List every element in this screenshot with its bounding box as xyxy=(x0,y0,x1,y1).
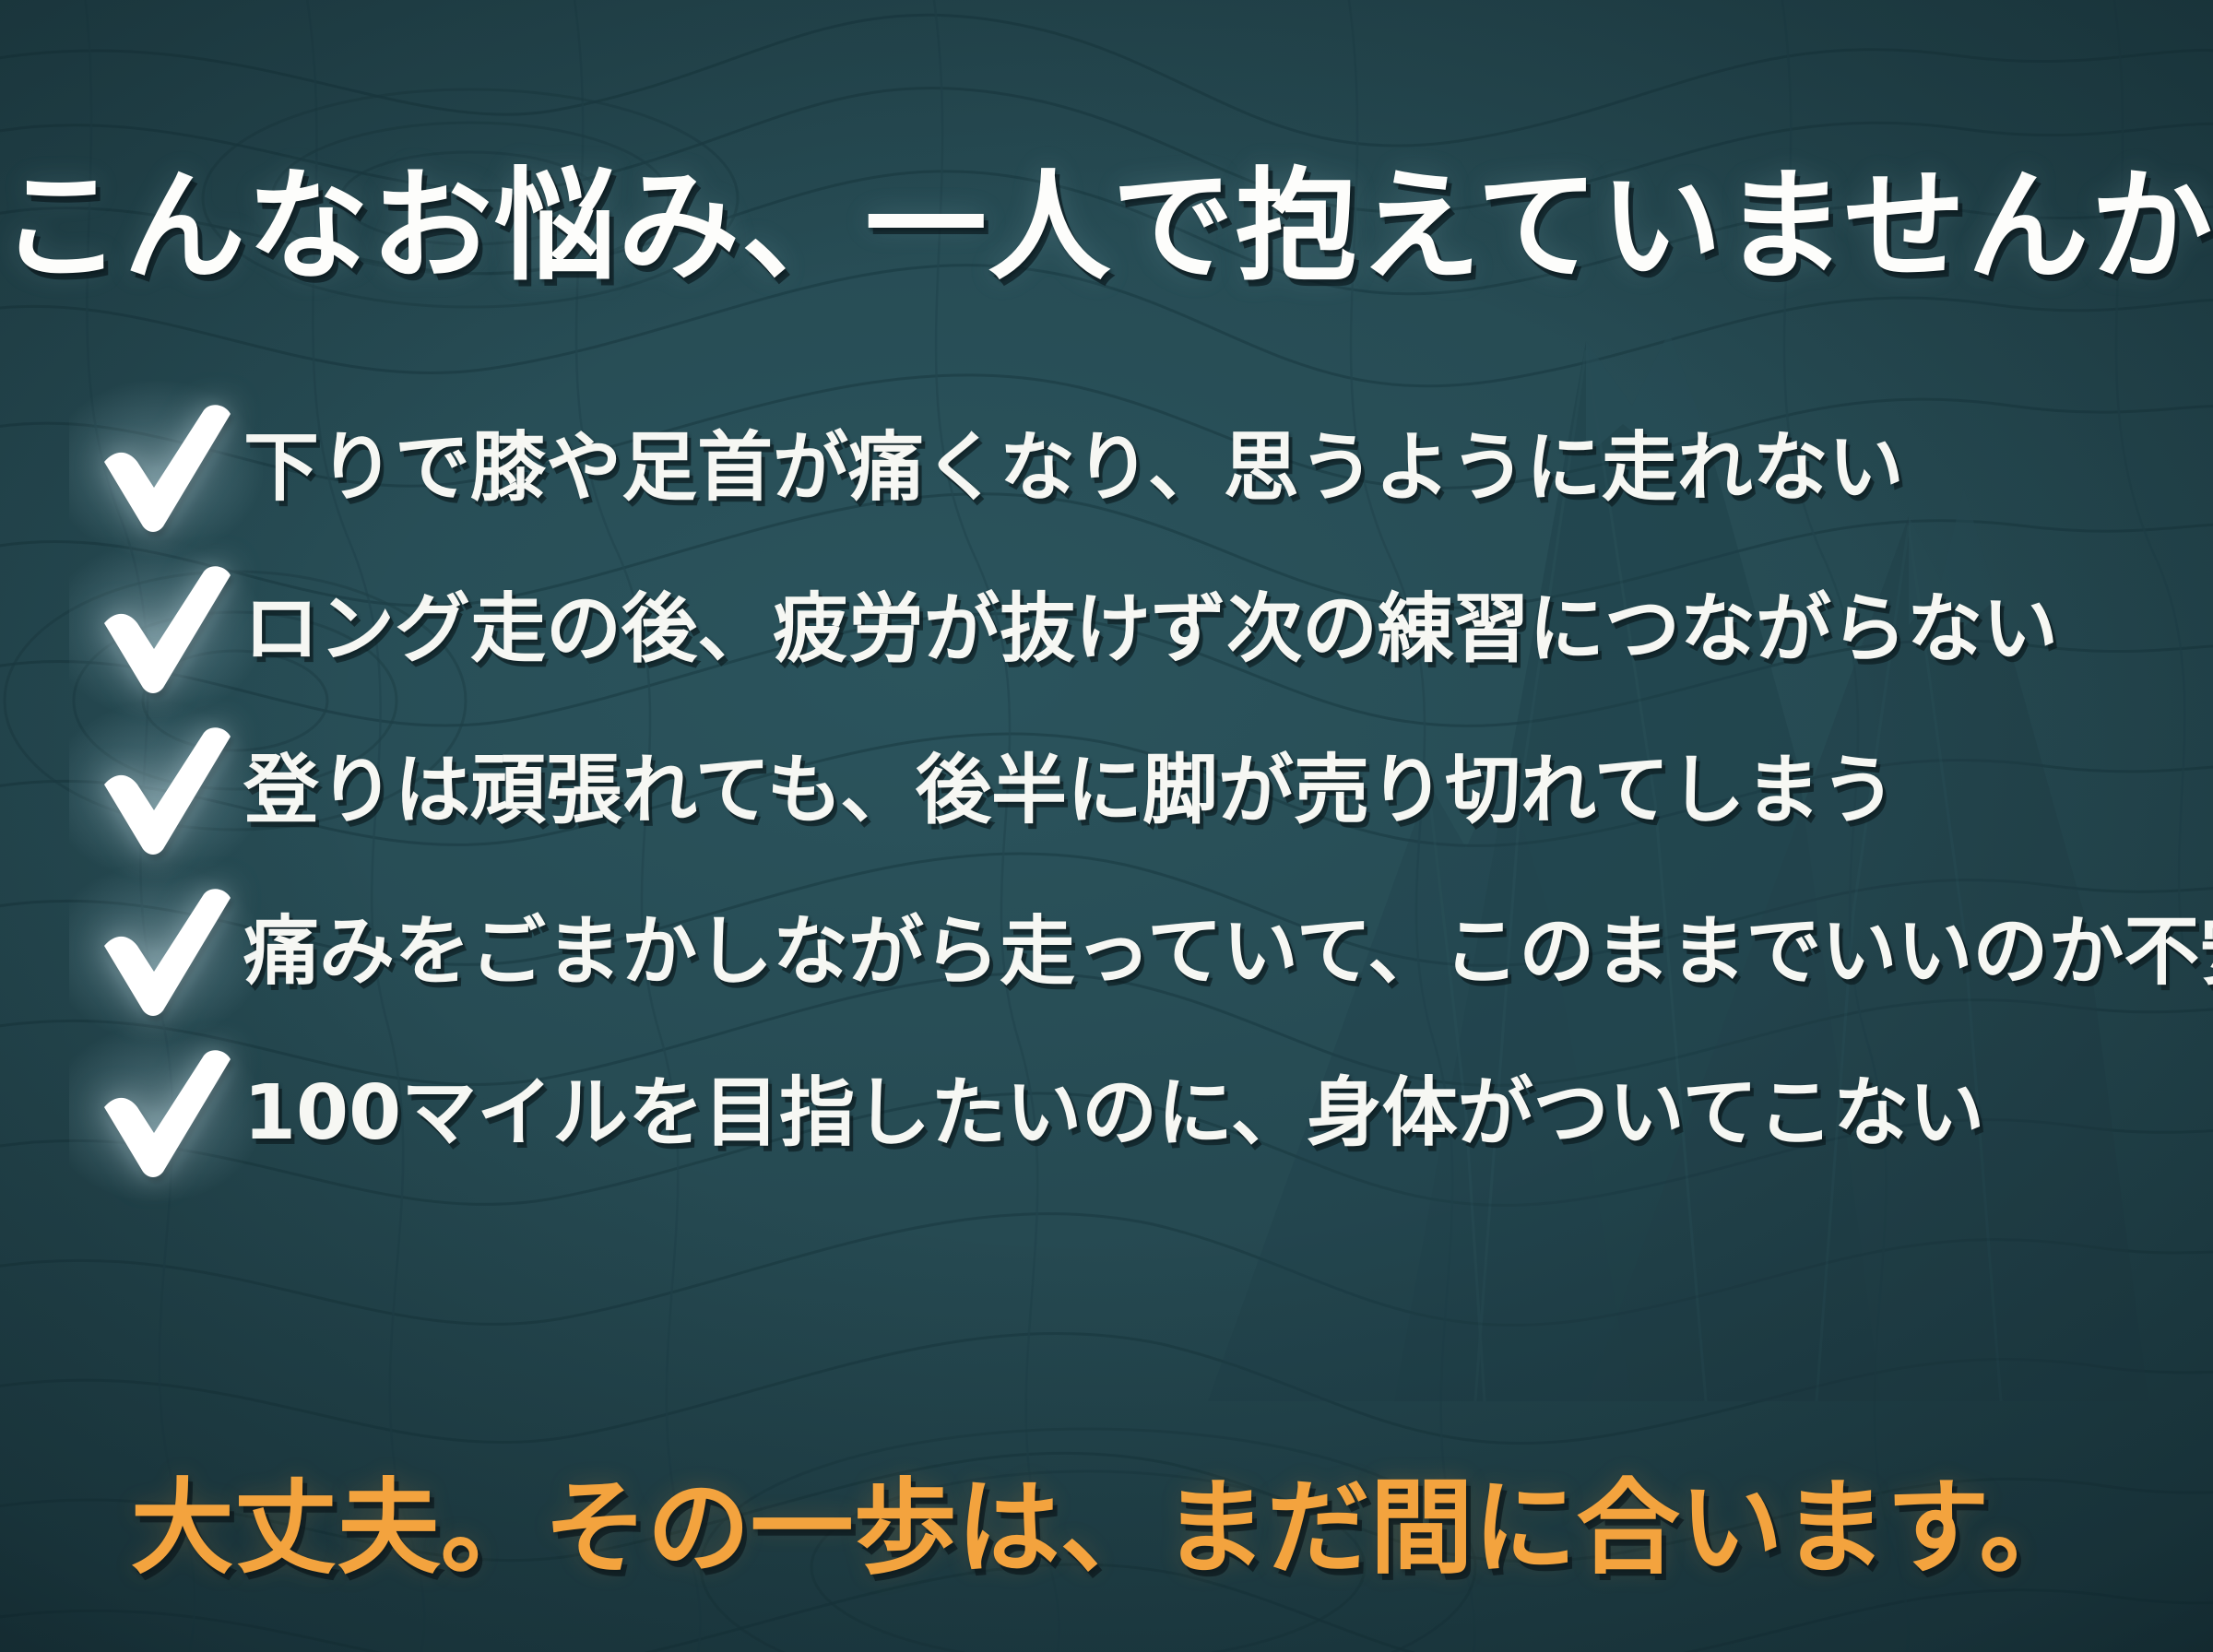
check-icon xyxy=(89,722,243,860)
check-icon xyxy=(89,883,243,1021)
pain-point-checklist: 下りで膝や足首が痛くなり、思うように走れない ロング走の後、疲労が抜けず次の練習… xyxy=(89,387,2158,1194)
list-item: 登りは頑張れても、後半に脚が売り切れてしまう xyxy=(89,710,2158,871)
list-item: 下りで膝や足首が痛くなり、思うように走れない xyxy=(89,387,2158,549)
check-icon xyxy=(89,399,243,537)
page-title: こんなお悩み、一人で抱えていませんか？ xyxy=(0,166,2213,288)
cta-message: 大丈夫。その一歩は、まだ間に合います。 xyxy=(0,1477,2213,1580)
list-item: ロング走の後、疲労が抜けず次の練習につながらない xyxy=(89,549,2158,710)
list-item-label: 100マイルを目指したいのに、身体がついてこない xyxy=(243,1076,1984,1151)
list-item-label: 下りで膝や足首が痛くなり、思うように走れない xyxy=(243,431,1904,506)
promo-slide: こんなお悩み、一人で抱えていませんか？ 下りで膝や足首が痛くなり、思うように走れ… xyxy=(0,0,2213,1652)
check-icon xyxy=(89,1044,243,1183)
list-item-label: 痛みをごまかしながら走っていて、このままでいいのか不安 xyxy=(243,914,2213,990)
list-item-label: ロング走の後、疲労が抜けず次の練習につながらない xyxy=(243,592,2058,667)
list-item: 痛みをごまかしながら走っていて、このままでいいのか不安 xyxy=(89,871,2158,1032)
list-item-label: 登りは頑張れても、後半に脚が売り切れてしまう xyxy=(243,753,1897,829)
list-item: 100マイルを目指したいのに、身体がついてこない xyxy=(89,1032,2158,1194)
check-icon xyxy=(89,560,243,699)
